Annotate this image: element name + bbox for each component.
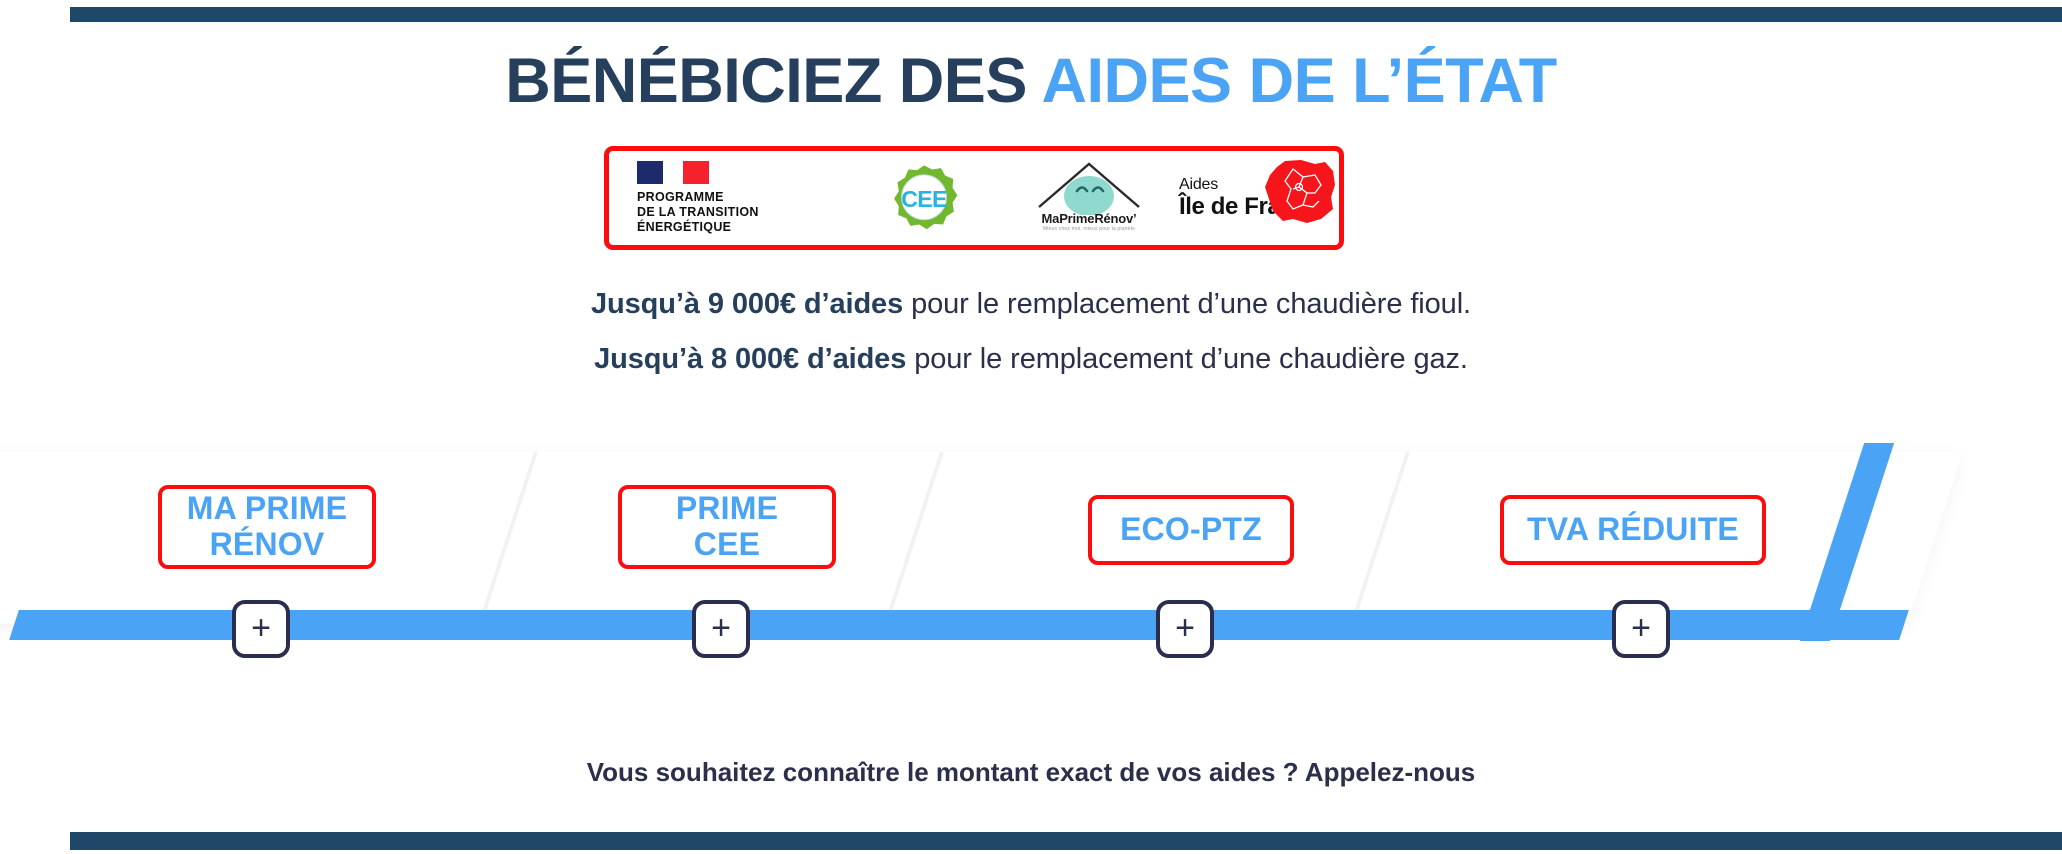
footer-call-to-action: Vous souhaitez connaître le montant exac…: [0, 757, 2062, 788]
svg-text:CEE: CEE: [901, 186, 947, 212]
page-title-dark-part: BÉNÉBICIEZ DES: [505, 46, 1027, 116]
page-title-light-part: AIDES DE L’ÉTAT: [1042, 46, 1557, 116]
logo-aides-ile-de-france: Aides Île de France: [1179, 151, 1339, 245]
aid-card-eco-ptz[interactable]: ECO-PTZ: [1088, 495, 1294, 565]
maprimerenov-house-icon: [1033, 157, 1145, 215]
aid-card-label: PRIME CEE: [676, 491, 778, 563]
expand-toggle-ma-prime-renov[interactable]: +: [232, 600, 290, 658]
subtitle-2-amount: Jusqu’à 8 000€ d’aides: [594, 343, 906, 375]
logo-cee: CEE: [849, 151, 999, 245]
aid-card-label-line1: PRIME: [676, 490, 778, 526]
logo-programme-line2: DE LA TRANSITION: [637, 205, 759, 220]
aid-card-label-line2: RÉNOV: [210, 526, 325, 562]
aid-card-label-line1: TVA RÉDUITE: [1527, 512, 1739, 548]
maprimerenov-tagline: Mieux chez moi, mieux pour la planète: [1014, 226, 1164, 232]
partner-logo-strip: PROGRAMME DE LA TRANSITION ÉNERGÉTIQUE C…: [604, 146, 1344, 250]
aid-card-ma-prime-renov[interactable]: MA PRIME RÉNOV: [158, 485, 376, 569]
aid-card-label: MA PRIME RÉNOV: [187, 491, 347, 563]
expand-toggle-tva-reduite[interactable]: +: [1612, 600, 1670, 658]
subtitle-1-rest: pour le remplacement d’une chaudière fio…: [903, 288, 1471, 320]
subtitle-1-amount: Jusqu’à 9 000€ d’aides: [591, 288, 903, 320]
plus-icon: +: [251, 611, 271, 645]
plus-icon: +: [711, 611, 731, 645]
logo-programme-line3: ÉNERGÉTIQUE: [637, 220, 759, 235]
logo-maprimerenov: MaPrimeRénov’ Mieux chez moi, mieux pour…: [999, 151, 1179, 245]
aid-card-label-line1: MA PRIME: [187, 490, 347, 526]
french-flag-icon: [637, 161, 709, 184]
cee-badge-icon: CEE: [890, 164, 958, 232]
subtitle-line-1: Jusqu’à 9 000€ d’aides pour le remplacem…: [0, 288, 2062, 321]
plus-icon: +: [1631, 611, 1651, 645]
aid-card-label-line2: CEE: [694, 526, 760, 562]
aid-card-prime-cee[interactable]: PRIME CEE: [618, 485, 836, 569]
aides-etat-section: BÉNÉBICIEZ DES AIDES DE L’ÉTAT PROGRAMME…: [0, 0, 2062, 854]
expand-toggle-eco-ptz[interactable]: +: [1156, 600, 1214, 658]
bottom-divider-rule: [70, 832, 2062, 850]
top-divider-rule: [70, 7, 2062, 22]
plus-icon: +: [1175, 611, 1195, 645]
aid-card-tva-reduite[interactable]: TVA RÉDUITE: [1500, 495, 1766, 565]
subtitle-2-rest: pour le remplacement d’une chaudière gaz…: [906, 343, 1468, 375]
logo-programme-transition-energetique: PROGRAMME DE LA TRANSITION ÉNERGÉTIQUE: [609, 151, 849, 245]
page-title: BÉNÉBICIEZ DES AIDES DE L’ÉTAT: [0, 45, 2062, 117]
subtitle-line-2: Jusqu’à 8 000€ d’aides pour le remplacem…: [0, 343, 2062, 376]
ile-de-france-map-icon: [1263, 159, 1337, 230]
expand-toggle-prime-cee[interactable]: +: [692, 600, 750, 658]
logo-programme-line1: PROGRAMME: [637, 190, 759, 205]
aid-card-label-line1: ECO-PTZ: [1120, 512, 1262, 548]
maprimerenov-name: MaPrimeRénov’: [1014, 211, 1164, 226]
